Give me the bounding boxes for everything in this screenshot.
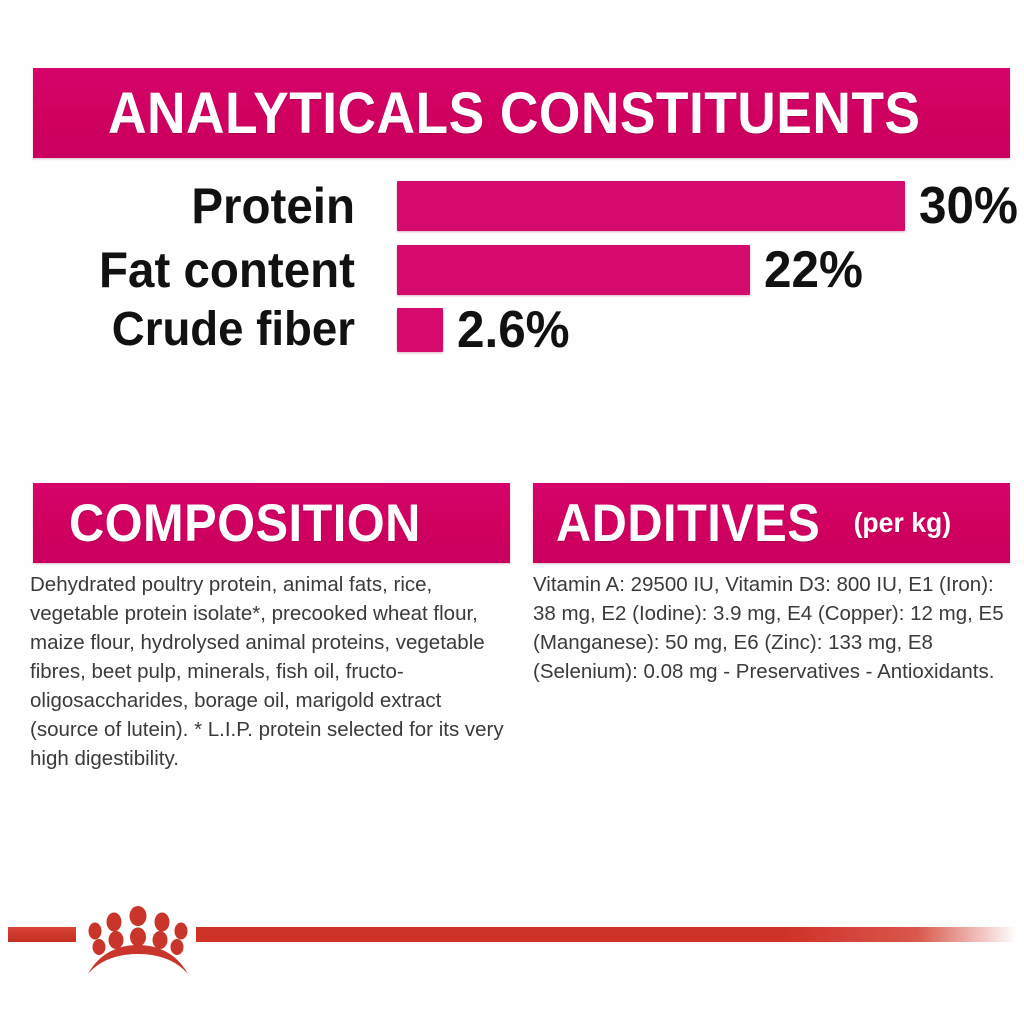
bar-value-crude-fiber: 2.6% [457,304,570,356]
bar-value-protein: 30% [919,180,1018,232]
bar-label-fat-content: Fat content [18,245,355,295]
royal-canin-crown-icon [82,900,194,978]
chart-row: Crude fiber 2.6% [0,305,1024,355]
additives-text: Vitamin A: 29500 IU, Vitamin D3: 800 IU,… [533,570,1017,686]
bar-label-protein: Protein [18,181,355,231]
bar-group-fat-content: 22% [397,244,868,296]
label-panel: ANALYTICALS CONSTITUENTS Protein 30% Fat… [0,0,1024,1024]
analyticals-bar-chart: Protein 30% Fat content 22% Crude fiber … [0,172,1024,357]
bar-group-protein: 30% [397,180,1023,232]
additives-banner: ADDITIVES (per kg) [533,483,1010,563]
composition-ingredients: Dehydrated poultry protein, animal fats,… [30,573,485,741]
composition-paragraph: Dehydrated poultry protein, animal fats,… [30,570,514,773]
chart-row: Protein 30% [0,178,1024,234]
footer-brand-rule [0,900,1024,980]
additives-paragraph: Vitamin A: 29500 IU, Vitamin D3: 800 IU,… [533,570,1017,686]
footer-rule-left [8,927,76,942]
bar-group-crude-fiber: 2.6% [397,304,576,356]
bar-crude-fiber [397,308,443,352]
bar-protein [397,181,905,231]
composition-title: COMPOSITION [69,493,421,554]
composition-text: Dehydrated poultry protein, animal fats,… [30,570,514,773]
chart-row: Fat content 22% [0,242,1024,298]
analyticals-constituents-title: ANALYTICALS CONSTITUENTS [108,80,920,147]
bar-label-crude-fiber: Crude fiber [18,306,355,354]
composition-banner: COMPOSITION [33,483,510,563]
additives-per-kg-label: (per kg) [854,507,952,539]
bar-value-fat-content: 22% [764,244,863,296]
bar-fat-content [397,245,750,295]
footer-rule-right [196,927,1016,942]
additives-title: ADDITIVES [556,493,820,554]
analyticals-constituents-banner: ANALYTICALS CONSTITUENTS [33,68,1010,158]
